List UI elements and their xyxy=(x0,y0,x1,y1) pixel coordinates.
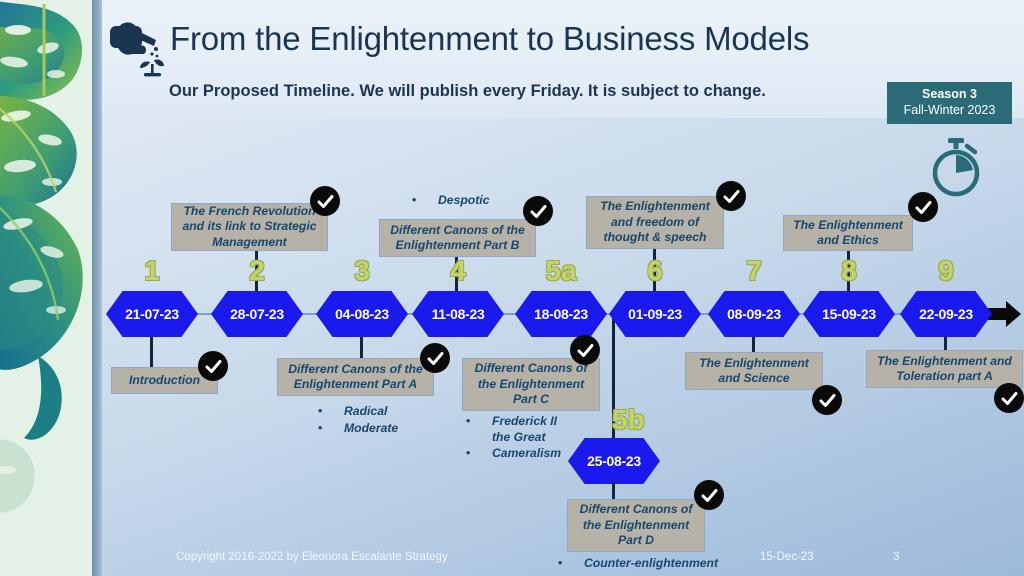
footer-page-number: 3 xyxy=(893,551,899,563)
timeline-node-8[interactable]: 8 15-09-23 xyxy=(803,291,895,337)
decorative-leaf-panel xyxy=(0,0,92,576)
timeline-node-6[interactable]: 6 01-09-23 xyxy=(609,291,701,337)
bullet-text: Cameralism xyxy=(492,446,561,460)
check-badge-5a xyxy=(570,335,600,365)
node-date-5a: 18-08-23 xyxy=(534,306,588,322)
season-badge-line1: Season 3 xyxy=(887,86,1012,102)
bullet-text: the Great xyxy=(492,430,546,444)
slide-canvas: From the Enlightenment to Business Model… xyxy=(0,0,1024,576)
bullet-counter-enlightenment: •Counter-enlightenment xyxy=(558,556,718,570)
bullet-dot: • xyxy=(466,414,492,428)
node-number-9: 9 xyxy=(900,255,992,287)
node-label-6: The Enlightenment and freedom of thought… xyxy=(586,196,724,249)
timeline-node-5b[interactable]: 5b 25-08-23 xyxy=(568,438,660,484)
timeline-node-4[interactable]: 4 11-08-23 xyxy=(412,291,504,337)
season-badge-line2: Fall-Winter 2023 xyxy=(887,102,1012,118)
season-badge: Season 3 Fall-Winter 2023 xyxy=(887,82,1012,124)
check-badge-9 xyxy=(994,383,1024,413)
node-number-7: 7 xyxy=(708,255,800,287)
bullet-text: Radical xyxy=(344,404,387,418)
node-number-5a: 5a xyxy=(515,255,607,287)
monstera-leaf-icon xyxy=(0,0,92,576)
node-date-2: 28-07-23 xyxy=(230,306,284,322)
stopwatch-icon xyxy=(921,136,991,198)
node-date-4: 11-08-23 xyxy=(432,306,485,322)
node-label-5b: Different Canons of the Enlightenment Pa… xyxy=(567,499,705,552)
node-label-8: The Enlightenment and Ethics xyxy=(783,215,913,251)
bullet-text: Despotic xyxy=(438,193,489,207)
node-number-1: 1 xyxy=(106,255,198,287)
bullet-dot: • xyxy=(412,193,438,207)
node-date-7: 08-09-23 xyxy=(727,306,781,322)
check-badge-6 xyxy=(716,181,746,211)
node-label-2: The French Revolution and its link to St… xyxy=(171,203,328,251)
node-hexagon-1[interactable]: 21-07-23 xyxy=(106,291,198,337)
bullet-dot: • xyxy=(466,446,492,460)
node-hexagon-9[interactable]: 22-09-23 xyxy=(900,291,992,337)
node-label-5a: Different Canons of the Enlightenment Pa… xyxy=(462,358,600,411)
node-number-8: 8 xyxy=(803,255,895,287)
node-number-5b: 5b xyxy=(612,404,672,436)
timeline-node-5a[interactable]: 5a 18-08-23 xyxy=(515,291,607,337)
bullet-text: Frederick II xyxy=(492,414,557,428)
check-badge-1 xyxy=(198,351,228,381)
node-hexagon-5a[interactable]: 18-08-23 xyxy=(515,291,607,337)
bullet-radical: •Radical xyxy=(318,404,387,418)
timeline-node-2[interactable]: 2 28-07-23 xyxy=(211,291,303,337)
bullet-dot: • xyxy=(318,421,344,435)
node-date-5b: 25-08-23 xyxy=(587,453,641,469)
node-label-7: The Enlightenment and Science xyxy=(685,352,823,390)
node-label-3: Different Canons of the Enlightenment Pa… xyxy=(277,358,434,396)
footer-copyright: Copyright 2016-2022 by Eleonora Escalant… xyxy=(176,551,448,563)
timeline-node-3[interactable]: 3 04-08-23 xyxy=(316,291,408,337)
node-number-4: 4 xyxy=(412,255,504,287)
bullet-dot: • xyxy=(318,404,344,418)
node-hexagon-3[interactable]: 04-08-23 xyxy=(316,291,408,337)
node-number-3: 3 xyxy=(316,255,408,287)
check-badge-2 xyxy=(310,186,340,216)
page-subtitle: Our Proposed Timeline. We will publish e… xyxy=(169,82,766,101)
check-badge-7 xyxy=(812,385,842,415)
timeline-node-1[interactable]: 1 21-07-23 xyxy=(106,291,198,337)
node-label-4: Different Canons of the Enlightenment Pa… xyxy=(379,219,536,257)
bullet-text: Moderate xyxy=(344,421,398,435)
node-date-3: 04-08-23 xyxy=(335,306,389,322)
bullet-despotic: •Despotic xyxy=(412,193,489,207)
node-number-6: 6 xyxy=(609,255,701,287)
node-number-2: 2 xyxy=(211,255,303,287)
timeline-node-7[interactable]: 7 08-09-23 xyxy=(708,291,800,337)
node-hexagon-2[interactable]: 28-07-23 xyxy=(211,291,303,337)
footer-date: 15-Dec-23 xyxy=(760,551,814,563)
node-hexagon-6[interactable]: 01-09-23 xyxy=(609,291,701,337)
node-date-1: 21-07-23 xyxy=(125,306,179,322)
node-hexagon-4[interactable]: 11-08-23 xyxy=(412,291,504,337)
node-hexagon-8[interactable]: 15-09-23 xyxy=(803,291,895,337)
page-title: From the Enlightenment to Business Model… xyxy=(170,20,809,58)
node-date-6: 01-09-23 xyxy=(628,306,682,322)
arrow-right-icon xyxy=(988,298,1022,330)
bullet-moderate: •Moderate xyxy=(318,421,398,435)
node-hexagon-5b[interactable]: 25-08-23 xyxy=(568,438,660,484)
bullet-dot: • xyxy=(558,556,584,570)
timeline-node-9[interactable]: 9 22-09-23 xyxy=(900,291,992,337)
stem-node-1 xyxy=(150,332,153,370)
node-label-9: The Enlightenment and Toleration part A xyxy=(866,350,1023,388)
bullet-frederick-ii: •Frederick II xyxy=(466,414,557,428)
node-hexagon-7[interactable]: 08-09-23 xyxy=(708,291,800,337)
node-date-8: 15-09-23 xyxy=(822,306,876,322)
bullet-text: Counter-enlightenment xyxy=(584,556,718,570)
check-badge-5b xyxy=(694,480,724,510)
bullet-cameralism: •Cameralism xyxy=(466,446,561,460)
check-badge-4 xyxy=(523,196,553,226)
watering-can-icon xyxy=(110,16,172,78)
check-badge-8 xyxy=(908,192,938,222)
bullet-the-great: the Great xyxy=(492,430,546,444)
node-date-9: 22-09-23 xyxy=(919,306,973,322)
check-badge-3 xyxy=(420,343,450,373)
panel-edge-divider xyxy=(92,0,102,576)
